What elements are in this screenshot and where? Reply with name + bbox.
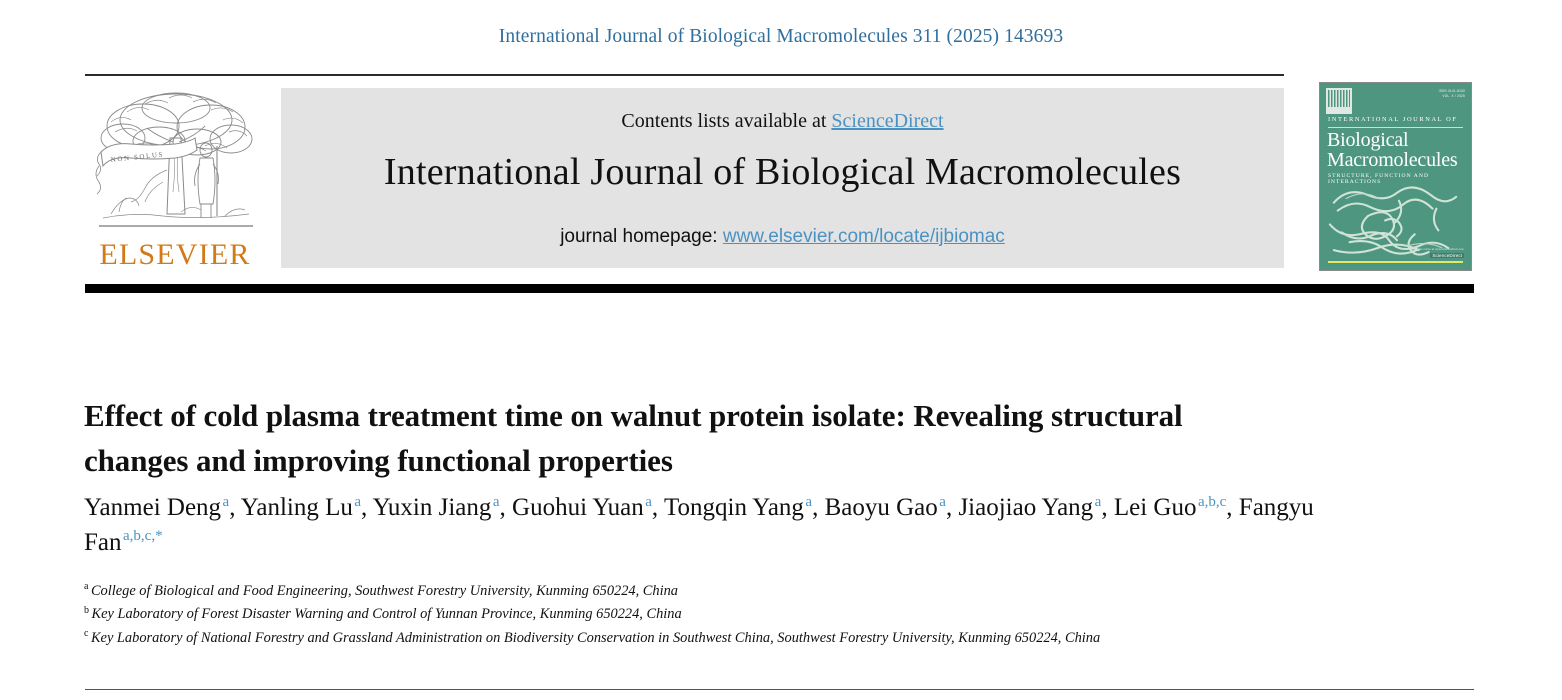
author-affiliation-mark[interactable]: a [353, 494, 361, 510]
author-name[interactable]: Yanmei Deng [84, 494, 221, 521]
cover-kicker: INTERNATIONAL JOURNAL OF [1328, 116, 1463, 123]
cover-sciencedirect-caption: Available online at www.sciencedirect.co… [1411, 248, 1464, 251]
cover-issn: ISSN 0141-8130 VOL. X / 2025 [1439, 89, 1465, 98]
cover-issn-line2: VOL. X / 2025 [1439, 94, 1465, 99]
author-affiliation-mark[interactable]: a [938, 494, 946, 510]
contents-lists-line: Contents lists available at ScienceDirec… [281, 110, 1284, 133]
journal-masthead: NON SOLUS ELSEVIER Contents lists availa… [85, 74, 1474, 294]
author-affiliation-mark[interactable]: a [1093, 494, 1101, 510]
author-list: Yanmei Denga, Yanling Lua, Yuxin Jianga,… [84, 491, 1314, 560]
author-name[interactable]: Yuxin Jiang [373, 494, 492, 521]
author-affiliation-mark[interactable]: a [804, 494, 812, 510]
author-affiliation-mark[interactable]: a [644, 494, 652, 510]
author-affiliation-mark[interactable]: a,b,c [1196, 494, 1226, 510]
affiliation-mark: b [84, 605, 92, 616]
contents-box: Contents lists available at ScienceDirec… [281, 88, 1284, 268]
affiliation-mark: c [84, 628, 91, 639]
running-head-citation: International Journal of Biological Macr… [0, 26, 1562, 48]
affiliation-entry: cKey Laboratory of National Forestry and… [84, 627, 1284, 650]
cover-elsevier-mark-icon [1326, 88, 1352, 114]
elsevier-tree-icon: NON SOLUS [93, 86, 259, 238]
affiliation-text: Key Laboratory of National Forestry and … [91, 630, 1100, 646]
author-affiliation-mark[interactable]: a,b,c,* [122, 528, 163, 544]
cover-issn-line1: ISSN 0141-8130 [1439, 89, 1465, 94]
journal-cover-thumbnail[interactable]: ISSN 0141-8130 VOL. X / 2025 INTERNATION… [1319, 82, 1472, 271]
author-affiliation-mark[interactable]: a [491, 494, 499, 510]
elsevier-wordmark: ELSEVIER [87, 240, 263, 270]
article-title: Effect of cold plasma treatment time on … [84, 393, 1294, 484]
journal-title: International Journal of Biological Macr… [281, 150, 1284, 194]
elsevier-logo: NON SOLUS ELSEVIER [85, 86, 263, 276]
journal-homepage-link[interactable]: www.elsevier.com/locate/ijbiomac [723, 226, 1005, 247]
affiliation-text: Key Laboratory of Forest Disaster Warnin… [92, 606, 682, 622]
masthead-black-bar [85, 284, 1474, 293]
contents-lists-prefix: Contents lists available at [621, 110, 831, 132]
affiliation-entry: aCollege of Biological and Food Engineer… [84, 580, 1284, 603]
cover-title-line2: Macromolecules [1327, 150, 1465, 170]
journal-homepage-prefix: journal homepage: [560, 226, 723, 247]
sciencedirect-link[interactable]: ScienceDirect [831, 110, 943, 132]
affiliation-entry: bKey Laboratory of Forest Disaster Warni… [84, 603, 1284, 626]
cover-title-line1: Biological [1327, 130, 1465, 150]
page-bottom-rule [85, 689, 1474, 690]
author-name[interactable]: Lei Guo [1114, 494, 1197, 521]
masthead-top-rule [85, 74, 1284, 76]
author-name[interactable]: Jiaojiao Yang [958, 494, 1093, 521]
author-affiliation-mark[interactable]: a [221, 494, 229, 510]
journal-homepage-line: journal homepage: www.elsevier.com/locat… [281, 226, 1284, 248]
cover-bottom-rule [1328, 261, 1463, 263]
affiliation-list: aCollege of Biological and Food Engineer… [84, 580, 1284, 650]
cover-title: Biological Macromolecules [1327, 130, 1465, 171]
author-name[interactable]: Yanling Lu [241, 494, 353, 521]
cover-sciencedirect-badge: ScienceDirect [1430, 253, 1464, 258]
affiliation-mark: a [84, 581, 91, 592]
author-name[interactable]: Tongqin Yang [664, 494, 804, 521]
author-name[interactable]: Guohui Yuan [512, 494, 644, 521]
affiliation-text: College of Biological and Food Engineeri… [91, 583, 678, 599]
author-name[interactable]: Baoyu Gao [825, 494, 938, 521]
